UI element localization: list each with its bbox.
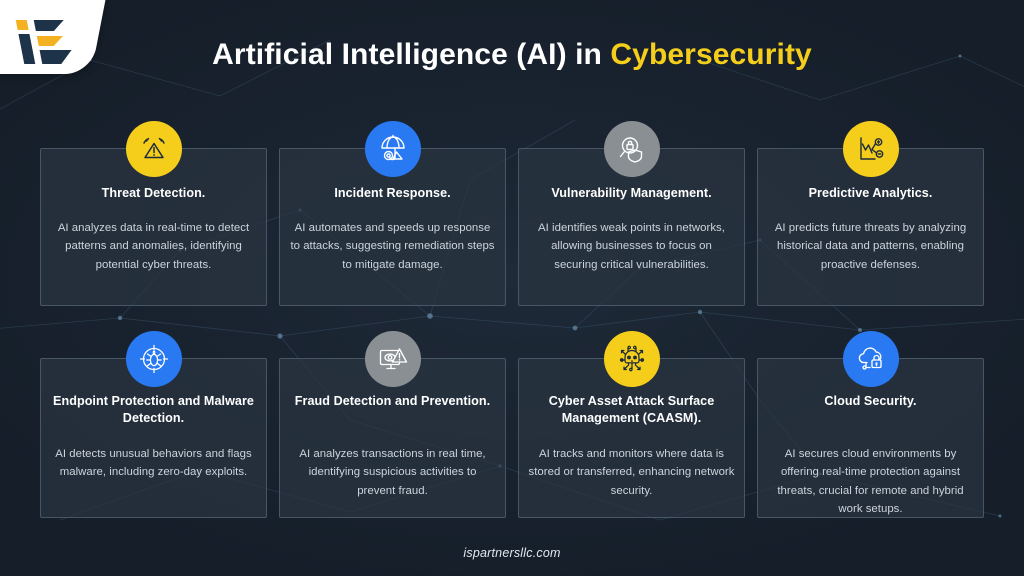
card-incident-response[interactable]: Incident Response. AI automates and spee… [279, 148, 506, 306]
card-body: AI analyzes data in real-time to detect … [50, 219, 257, 274]
card-title: Vulnerability Management. [529, 185, 734, 202]
card-row-bottom: Endpoint Protection and Malware Detectio… [40, 358, 984, 518]
card-title: Threat Detection. [51, 185, 256, 202]
card-body: AI secures cloud environments by offerin… [767, 445, 974, 519]
footer-website[interactable]: ispartnersllc.com [0, 546, 1024, 560]
page-title: Artificial Intelligence (AI) in Cybersec… [0, 38, 1024, 72]
card-body: AI automates and speeds up response to a… [289, 219, 496, 274]
card-body: AI predicts future threats by analyzing … [767, 219, 974, 274]
monitor-warning-icon [365, 331, 421, 387]
card-body: AI identifies weak points in networks, a… [528, 219, 735, 274]
cloud-lock-icon [843, 331, 899, 387]
card-body: AI detects unusual behaviors and flags m… [50, 445, 257, 482]
magnifier-lock-shield-icon [604, 121, 660, 177]
page-title-main: Artificial Intelligence (AI) in [212, 38, 610, 71]
alert-triangle-icon [126, 121, 182, 177]
card-title: Endpoint Protection and Malware Detectio… [51, 393, 256, 428]
card-body: AI analyzes transactions in real time, i… [289, 445, 496, 500]
card-predictive-analytics[interactable]: Predictive Analytics. AI predicts future… [757, 148, 984, 306]
card-title: Cloud Security. [768, 393, 973, 410]
card-cloud-security[interactable]: Cloud Security. AI secures cloud environ… [757, 358, 984, 518]
card-row-top: Threat Detection. AI analyzes data in re… [40, 148, 984, 306]
umbrella-gear-icon [365, 121, 421, 177]
page-title-highlight: Cybersecurity [610, 38, 811, 71]
card-fraud-detection[interactable]: Fraud Detection and Prevention. AI analy… [279, 358, 506, 518]
card-caasm[interactable]: Cyber Asset Attack Surface Management (C… [518, 358, 745, 518]
card-body: AI tracks and monitors where data is sto… [528, 445, 735, 500]
bug-crosshair-icon [126, 331, 182, 387]
card-title: Fraud Detection and Prevention. [290, 393, 495, 410]
circuit-skull-icon [604, 331, 660, 387]
card-title: Cyber Asset Attack Surface Management (C… [529, 393, 734, 428]
card-endpoint-protection[interactable]: Endpoint Protection and Malware Detectio… [40, 358, 267, 518]
card-title: Predictive Analytics. [768, 185, 973, 202]
card-threat-detection[interactable]: Threat Detection. AI analyzes data in re… [40, 148, 267, 306]
chart-nodes-icon [843, 121, 899, 177]
card-title: Incident Response. [290, 185, 495, 202]
card-vulnerability-management[interactable]: Vulnerability Management. AI identifies … [518, 148, 745, 306]
